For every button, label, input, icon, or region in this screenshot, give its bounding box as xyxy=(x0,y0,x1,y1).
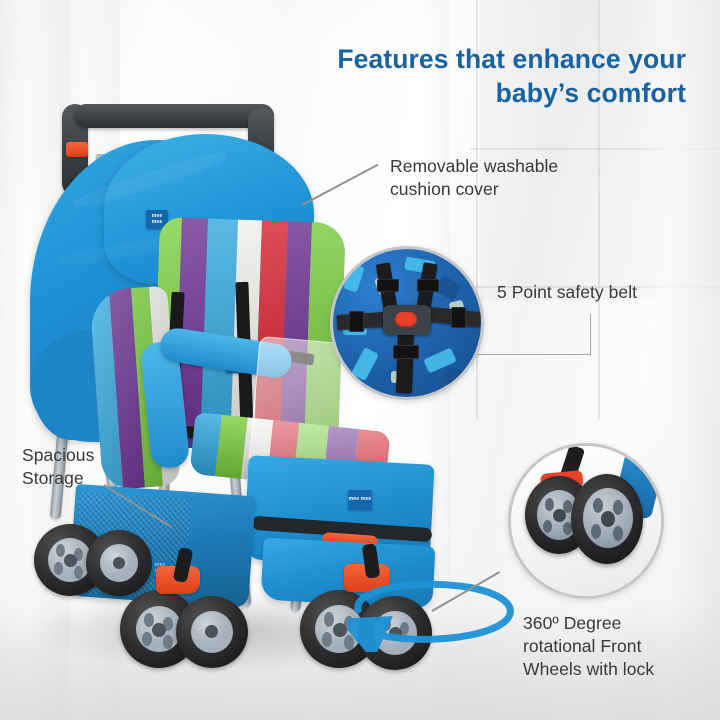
crotch-strap xyxy=(396,331,414,394)
safety-belt-closeup-inset xyxy=(330,246,484,400)
callout-line-1: 360º Degree xyxy=(523,612,713,635)
callout-label-safety-belt: 5 Point safety belt xyxy=(497,281,712,304)
headline-line-1: Features that enhance your xyxy=(337,44,686,74)
callout-line-2: Storage xyxy=(22,467,162,490)
buckle-release-button xyxy=(395,312,417,327)
infographic-canvas: Features that enhance your baby’s comfor… xyxy=(0,0,720,720)
front-wheel-closeup-inset xyxy=(508,443,664,599)
callout-line-1: Removable washable xyxy=(390,155,640,178)
brand-text: mee mee xyxy=(349,497,372,502)
callout-line-1: Spacious xyxy=(22,444,162,467)
leader-line-belt xyxy=(472,314,591,355)
brand-patch-apron: mee mee xyxy=(348,490,372,510)
callout-line-3: Wheels with lock xyxy=(523,658,713,681)
360-degree-rotation-arrow xyxy=(348,578,528,652)
callout-label-spacious-storage: Spacious Storage xyxy=(22,444,162,490)
callout-line-1: 5 Point safety belt xyxy=(497,281,712,304)
fold-release-clip xyxy=(66,142,88,157)
callout-line-2: rotational Front xyxy=(523,635,713,658)
callout-label-cushion-cover: Removable washable cushion cover xyxy=(390,155,640,201)
callout-line-2: cushion cover xyxy=(390,178,640,201)
callout-label-front-wheels: 360º Degree rotational Front Wheels with… xyxy=(523,612,713,680)
